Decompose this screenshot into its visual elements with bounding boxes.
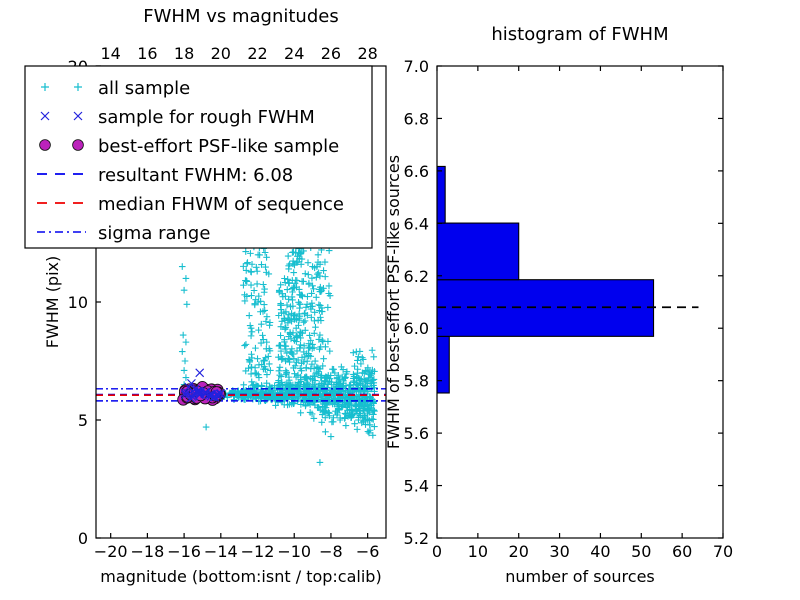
- data-point-plus: [254, 355, 261, 362]
- figure-canvas: −20−18−16−14−12−10−8−6141618202224262805…: [0, 0, 800, 600]
- data-point-plus: [286, 261, 293, 268]
- x-axis-tick-label: −6: [356, 542, 380, 561]
- left-panel-title: FWHM vs magnitudes: [143, 6, 338, 27]
- data-point-plus: [370, 354, 377, 361]
- data-point-plus: [252, 345, 259, 352]
- top-axis-tick-label: 20: [211, 44, 231, 63]
- data-point-plus: [249, 328, 256, 335]
- matplotlib-figure: −20−18−16−14−12−10−8−6141618202224262805…: [0, 0, 800, 600]
- data-point-plus: [305, 259, 312, 266]
- y-axis-tick-label: 6.6: [404, 162, 429, 181]
- top-axis-tick-label: 24: [284, 44, 304, 63]
- x-axis-tick-label: 0: [432, 542, 442, 561]
- data-point-plus: [297, 410, 304, 417]
- data-point-plus: [183, 339, 190, 346]
- data-point-plus: [296, 305, 303, 312]
- data-point-plus: [243, 341, 250, 348]
- top-axis-tick-label: 16: [137, 44, 157, 63]
- data-point-plus: [203, 424, 210, 431]
- top-axis-tick-label: 22: [247, 44, 267, 63]
- data-point-plus: [181, 367, 188, 374]
- y-axis-tick-label: 5.8: [404, 372, 429, 391]
- data-point-plus: [354, 426, 361, 433]
- data-point-plus: [260, 281, 267, 288]
- y-axis-tick-label: 10: [68, 293, 88, 312]
- data-point-plus: [264, 371, 271, 378]
- histogram-bar: [437, 166, 445, 223]
- data-point-plus: [302, 270, 309, 277]
- y-axis-tick-label: 5.4: [404, 477, 429, 496]
- data-point-cross: [196, 369, 204, 377]
- data-point-plus: [276, 368, 283, 375]
- left-panel-xlabel: magnitude (bottom:isnt / top:calib): [100, 567, 381, 586]
- x-axis-tick-label: −16: [167, 542, 201, 561]
- data-point-plus: [317, 459, 324, 466]
- data-point-plus: [248, 333, 255, 340]
- x-axis-tick-label: 50: [631, 542, 651, 561]
- data-point-plus: [283, 350, 290, 357]
- data-point-plus: [284, 302, 291, 309]
- legend: all samplesample for rough FWHMbest-effo…: [25, 66, 372, 248]
- data-point-plus: [351, 420, 358, 427]
- legend-dot-icon: [73, 140, 84, 151]
- data-point-plus: [261, 286, 268, 293]
- data-point-plus: [305, 271, 312, 278]
- data-point-plus: [259, 332, 266, 339]
- data-point-plus: [291, 370, 298, 377]
- data-point-plus: [264, 313, 271, 320]
- y-axis-tick-label: 6.2: [404, 267, 429, 286]
- data-point-plus: [243, 267, 250, 274]
- x-axis-tick-label: 20: [509, 542, 529, 561]
- y-axis-tick-label: 7.0: [404, 57, 429, 76]
- data-point-plus: [254, 281, 261, 288]
- x-axis-tick-label: 60: [672, 542, 692, 561]
- data-point-plus: [315, 252, 322, 259]
- x-axis-tick-label: −8: [319, 542, 343, 561]
- legend-item-label: resultant FWHM: 6.08: [98, 165, 293, 186]
- legend-item-label: sigma range: [98, 223, 210, 244]
- data-point-plus: [179, 263, 186, 270]
- y-axis-tick-label: 0: [78, 529, 88, 548]
- x-axis-tick-label: 70: [713, 542, 733, 561]
- data-point-plus: [307, 365, 314, 372]
- legend-item-label: best-effort PSF-like sample: [98, 136, 339, 157]
- data-point-plus: [322, 273, 329, 280]
- data-point-plus: [309, 275, 316, 282]
- top-axis-tick-label: 14: [101, 44, 121, 63]
- x-axis-tick-label: 10: [468, 542, 488, 561]
- right-panel-data: [437, 166, 698, 393]
- data-point-plus: [316, 301, 323, 308]
- right-panel: 0102030405060705.25.45.65.86.06.26.46.66…: [384, 24, 733, 586]
- data-point-plus: [313, 294, 320, 301]
- data-point-plus: [297, 342, 304, 349]
- data-point-plus: [311, 318, 318, 325]
- data-point-plus: [285, 266, 292, 273]
- data-point-plus: [267, 367, 274, 374]
- data-point-plus: [326, 348, 333, 355]
- data-point-plus: [180, 332, 187, 339]
- data-point-plus: [371, 423, 378, 430]
- data-point-plus: [311, 309, 318, 316]
- top-axis-tick-label: 18: [174, 44, 194, 63]
- data-point-plus: [181, 287, 188, 294]
- x-axis-tick-label: −14: [204, 542, 238, 561]
- data-point-plus: [281, 275, 288, 282]
- data-point-plus: [328, 433, 335, 440]
- data-point-plus: [287, 330, 294, 337]
- legend-dot-icon: [40, 140, 51, 151]
- left-panel-ylabel: FWHM (pix): [43, 256, 62, 349]
- data-point-plus: [289, 249, 296, 256]
- data-point-plus: [350, 349, 357, 356]
- top-axis-tick-label: 28: [357, 44, 377, 63]
- data-point-plus: [276, 342, 283, 349]
- data-point-plus: [263, 254, 270, 261]
- y-axis-tick-label: 5.2: [404, 529, 429, 548]
- x-axis-tick-label: 30: [549, 542, 569, 561]
- data-point-plus: [252, 370, 259, 377]
- data-point-plus: [369, 347, 376, 354]
- data-point-plus: [182, 358, 189, 365]
- data-point-plus: [277, 364, 284, 371]
- y-axis-tick-label: 6.0: [404, 319, 429, 338]
- data-point-plus: [241, 342, 248, 349]
- data-point-plus: [243, 277, 250, 284]
- data-point-plus: [183, 275, 190, 282]
- data-point-plus: [248, 371, 255, 378]
- data-point-plus: [184, 301, 191, 308]
- data-point-plus: [277, 332, 284, 339]
- histogram-bar: [437, 336, 449, 393]
- x-axis-tick-label: −12: [241, 542, 275, 561]
- data-point-plus: [292, 312, 299, 319]
- x-axis-tick-label: −10: [277, 542, 311, 561]
- data-point-plus: [329, 419, 336, 426]
- data-point-plus: [255, 327, 262, 334]
- data-point-plus: [249, 261, 256, 268]
- data-point-plus: [261, 307, 268, 314]
- data-point-plus: [290, 269, 297, 276]
- data-point-plus: [312, 358, 319, 365]
- data-point-plus: [255, 251, 262, 258]
- legend-item-label: all sample: [98, 78, 190, 99]
- y-axis-tick-label: 6.4: [404, 214, 429, 233]
- right-panel-title: histogram of FWHM: [491, 24, 668, 45]
- data-point-plus: [318, 419, 325, 426]
- legend-item-label: sample for rough FWHM: [98, 107, 315, 128]
- data-point-plus: [179, 348, 186, 355]
- x-axis-tick-label: −20: [94, 542, 128, 561]
- data-point-plus: [330, 366, 337, 373]
- data-point-plus: [322, 429, 329, 436]
- data-point-plus: [357, 348, 364, 355]
- data-point-plus: [261, 301, 268, 308]
- data-point-plus: [343, 422, 350, 429]
- data-point-plus: [351, 363, 358, 370]
- y-axis-tick-label: 5: [78, 411, 88, 430]
- right-panel-ylabel: FWHM of best-effort PSF-like sources: [384, 155, 403, 449]
- y-axis-tick-label: 6.8: [404, 109, 429, 128]
- data-point-plus: [248, 282, 255, 289]
- data-point-plus: [312, 324, 319, 331]
- x-axis-tick-label: 40: [590, 542, 610, 561]
- x-axis-tick-label: −18: [131, 542, 165, 561]
- data-point-plus: [285, 253, 292, 260]
- data-point-plus: [320, 355, 327, 362]
- data-point-plus: [299, 278, 306, 285]
- data-point-plus: [325, 304, 332, 311]
- top-axis-tick-label: 26: [321, 44, 341, 63]
- data-point-plus: [254, 268, 261, 275]
- data-point-plus: [247, 268, 254, 275]
- y-axis-tick-label: 5.6: [404, 424, 429, 443]
- data-point-plus: [309, 300, 316, 307]
- data-point-plus: [276, 372, 283, 379]
- legend-box: [25, 66, 372, 248]
- right-panel-xlabel: number of sources: [505, 567, 655, 586]
- histogram-bar: [437, 223, 519, 280]
- data-point-plus: [246, 312, 253, 319]
- legend-item-label: median FHWM of sequence: [98, 194, 344, 215]
- data-point-plus: [303, 364, 310, 371]
